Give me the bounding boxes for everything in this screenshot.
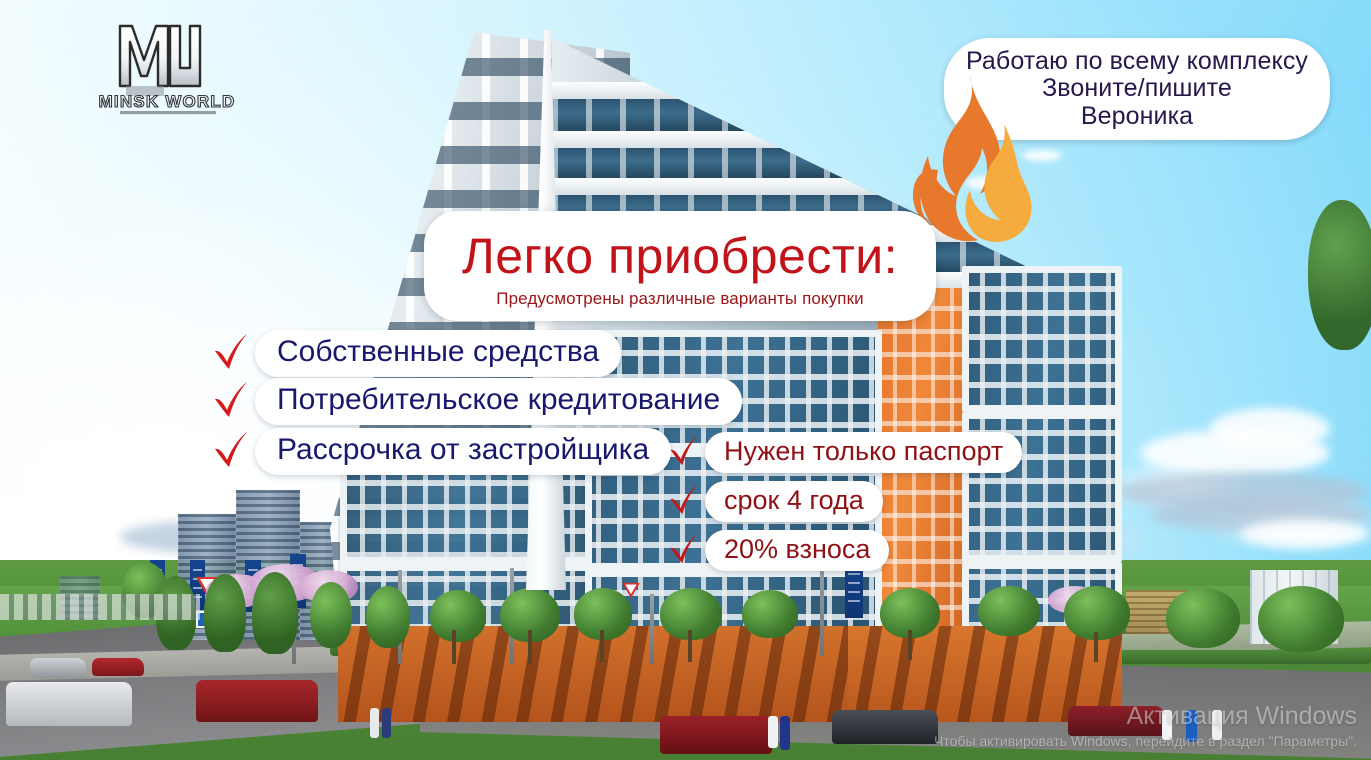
check-icon bbox=[668, 432, 700, 473]
car bbox=[196, 680, 318, 722]
term-label: 20% взноса bbox=[724, 533, 870, 566]
list-item[interactable]: срок 4 года bbox=[668, 481, 883, 522]
flame-icon bbox=[908, 72, 1034, 244]
pedestrian bbox=[768, 716, 778, 748]
option-label: Рассрочка от застройщика bbox=[277, 432, 649, 469]
list-item[interactable]: Нужен только паспорт bbox=[668, 432, 1022, 473]
page-subtitle: Предусмотрены различные варианты покупки bbox=[496, 290, 863, 307]
option-label: Потребительское кредитование bbox=[277, 382, 720, 419]
check-icon bbox=[212, 379, 250, 424]
logo-wordmark: MINSK WORLD bbox=[99, 92, 236, 111]
contact-line-2: Звоните/пишите bbox=[1042, 75, 1232, 102]
option-pill[interactable]: Собственные средства bbox=[255, 330, 621, 377]
contact-line-3: Вероника bbox=[1081, 103, 1193, 130]
car bbox=[660, 716, 772, 754]
facade-frame bbox=[962, 266, 1122, 412]
check-icon bbox=[668, 481, 700, 522]
list-item[interactable]: 20% взноса bbox=[668, 530, 889, 571]
page-title: Легко приобрести: bbox=[462, 231, 898, 281]
check-icon bbox=[212, 429, 250, 474]
list-item[interactable]: Собственные средства bbox=[212, 330, 621, 377]
option-pill[interactable]: Потребительское кредитование bbox=[255, 378, 742, 425]
car bbox=[6, 682, 132, 726]
list-item[interactable]: Рассрочка от застройщика bbox=[212, 428, 671, 475]
ground-colonnade bbox=[338, 626, 848, 722]
check-icon bbox=[212, 331, 250, 376]
check-icon bbox=[668, 530, 700, 571]
term-pill[interactable]: Нужен только паспорт bbox=[705, 432, 1022, 473]
option-label: Собственные средства bbox=[277, 334, 599, 371]
option-pill[interactable]: Рассрочка от застройщика bbox=[255, 428, 671, 475]
windows-activation-watermark: Активация Windows Чтобы активировать Win… bbox=[934, 703, 1357, 750]
car bbox=[832, 710, 938, 744]
term-pill[interactable]: срок 4 года bbox=[705, 481, 883, 522]
pedestrian bbox=[382, 708, 391, 738]
car bbox=[92, 658, 144, 676]
watermark-title: Активация Windows bbox=[934, 703, 1357, 731]
list-item[interactable]: Потребительское кредитование bbox=[212, 378, 742, 425]
term-label: Нужен только паспорт bbox=[724, 435, 1003, 468]
watermark-subtitle: Чтобы активировать Windows, перейдите в … bbox=[934, 733, 1357, 751]
term-pill[interactable]: 20% взноса bbox=[705, 530, 889, 571]
pedestrian bbox=[780, 716, 790, 750]
term-label: срок 4 года bbox=[724, 484, 864, 517]
car bbox=[30, 658, 86, 678]
headline-card: Легко приобрести: Предусмотрены различны… bbox=[424, 211, 936, 321]
yield-sign-icon bbox=[622, 583, 640, 598]
pedestrian bbox=[370, 708, 379, 738]
promo-banner: MINSK WORLD Работаю по всему комплексу З… bbox=[0, 0, 1371, 760]
minsk-world-logo-icon: MINSK WORLD bbox=[92, 14, 242, 118]
